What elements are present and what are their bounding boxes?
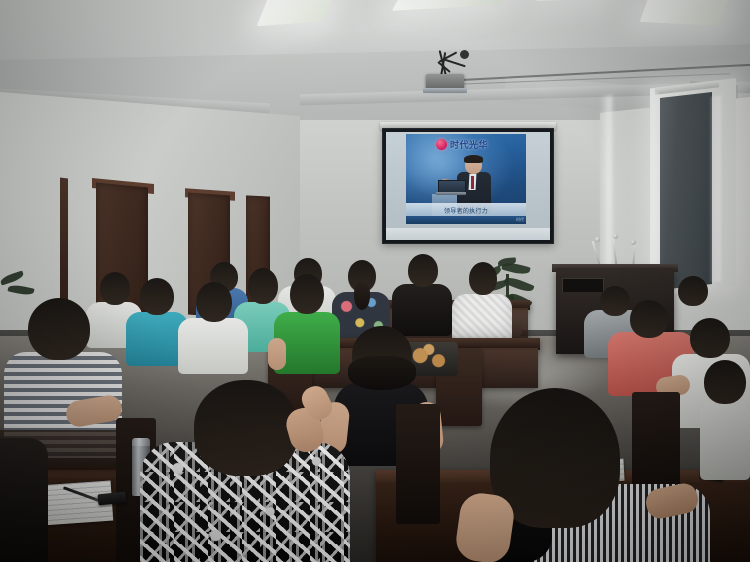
- attendee-hair: [348, 356, 416, 390]
- attendee-ponytail: [354, 282, 370, 310]
- plant-leaf: [0, 270, 25, 285]
- window-light-glare: [652, 92, 659, 283]
- attendee-dark-top: [392, 254, 452, 336]
- window-blind[interactable]: [660, 92, 712, 290]
- attendee-arm: [268, 338, 286, 370]
- ceiling-light-panel: [640, 0, 731, 26]
- attendee-head: [28, 298, 90, 360]
- microphone-head: [595, 237, 600, 242]
- attendee-lace-top: [452, 262, 512, 342]
- ceiling-projector: [418, 48, 474, 92]
- screen-bottom-margin: [386, 228, 550, 240]
- attendee-head: [469, 262, 497, 295]
- ceiling-slab: [0, 0, 750, 60]
- attendee-torso: [178, 318, 248, 374]
- attendee-torso: [452, 294, 512, 342]
- laptop-base: [436, 192, 466, 195]
- plant-leaf: [7, 283, 34, 296]
- projector-cable-knot: [460, 50, 469, 59]
- attendee-foreground-letter-shirt: [140, 380, 350, 562]
- video-footer-bar: [406, 216, 526, 224]
- video-logo: 时代光华: [436, 138, 488, 151]
- video-logo-text: 时代光华: [450, 138, 488, 151]
- chair-front-mid: [396, 404, 440, 524]
- photo-scene: 时代光华 领导者的执行力 时代: [0, 0, 750, 562]
- microphone-head: [631, 240, 636, 245]
- wall-corner-glare: [600, 95, 612, 271]
- attendee-head: [290, 274, 324, 314]
- attendee-head: [194, 380, 298, 476]
- video-laptop: [436, 180, 466, 196]
- attendee-head: [630, 300, 668, 338]
- presenter-hair: [464, 155, 483, 163]
- attendee-left-edge: [0, 408, 60, 562]
- window-light-glare: [710, 95, 721, 282]
- projector-mount-arm: [444, 59, 466, 68]
- attendee-head: [196, 282, 232, 322]
- attendee-head: [140, 278, 174, 315]
- projected-video: 时代光华 领导者的执行力 时代: [406, 134, 526, 224]
- attendee-hand-on-head: [454, 491, 517, 562]
- attendee-center-white: [178, 282, 248, 372]
- projection-screen: 时代光华 领导者的执行力 时代: [382, 128, 554, 244]
- attendee-head: [704, 360, 746, 404]
- ceiling-cable: [430, 63, 750, 82]
- projector-base-plate: [423, 88, 467, 93]
- microphone-head: [613, 234, 618, 239]
- attendee-torso: [700, 400, 750, 480]
- attendee-torso: [0, 438, 48, 562]
- attendee-head: [408, 254, 438, 287]
- presenter-tie: [471, 176, 474, 189]
- video-subtitle-text: 领导者的执行力: [406, 206, 526, 215]
- globe-icon: [436, 139, 447, 150]
- attendee-right-edge: [700, 360, 750, 480]
- attendee-foreground-stripe-shirt: [446, 388, 696, 562]
- attendee-head: [690, 318, 730, 358]
- video-corner-tag: 时代: [516, 217, 524, 223]
